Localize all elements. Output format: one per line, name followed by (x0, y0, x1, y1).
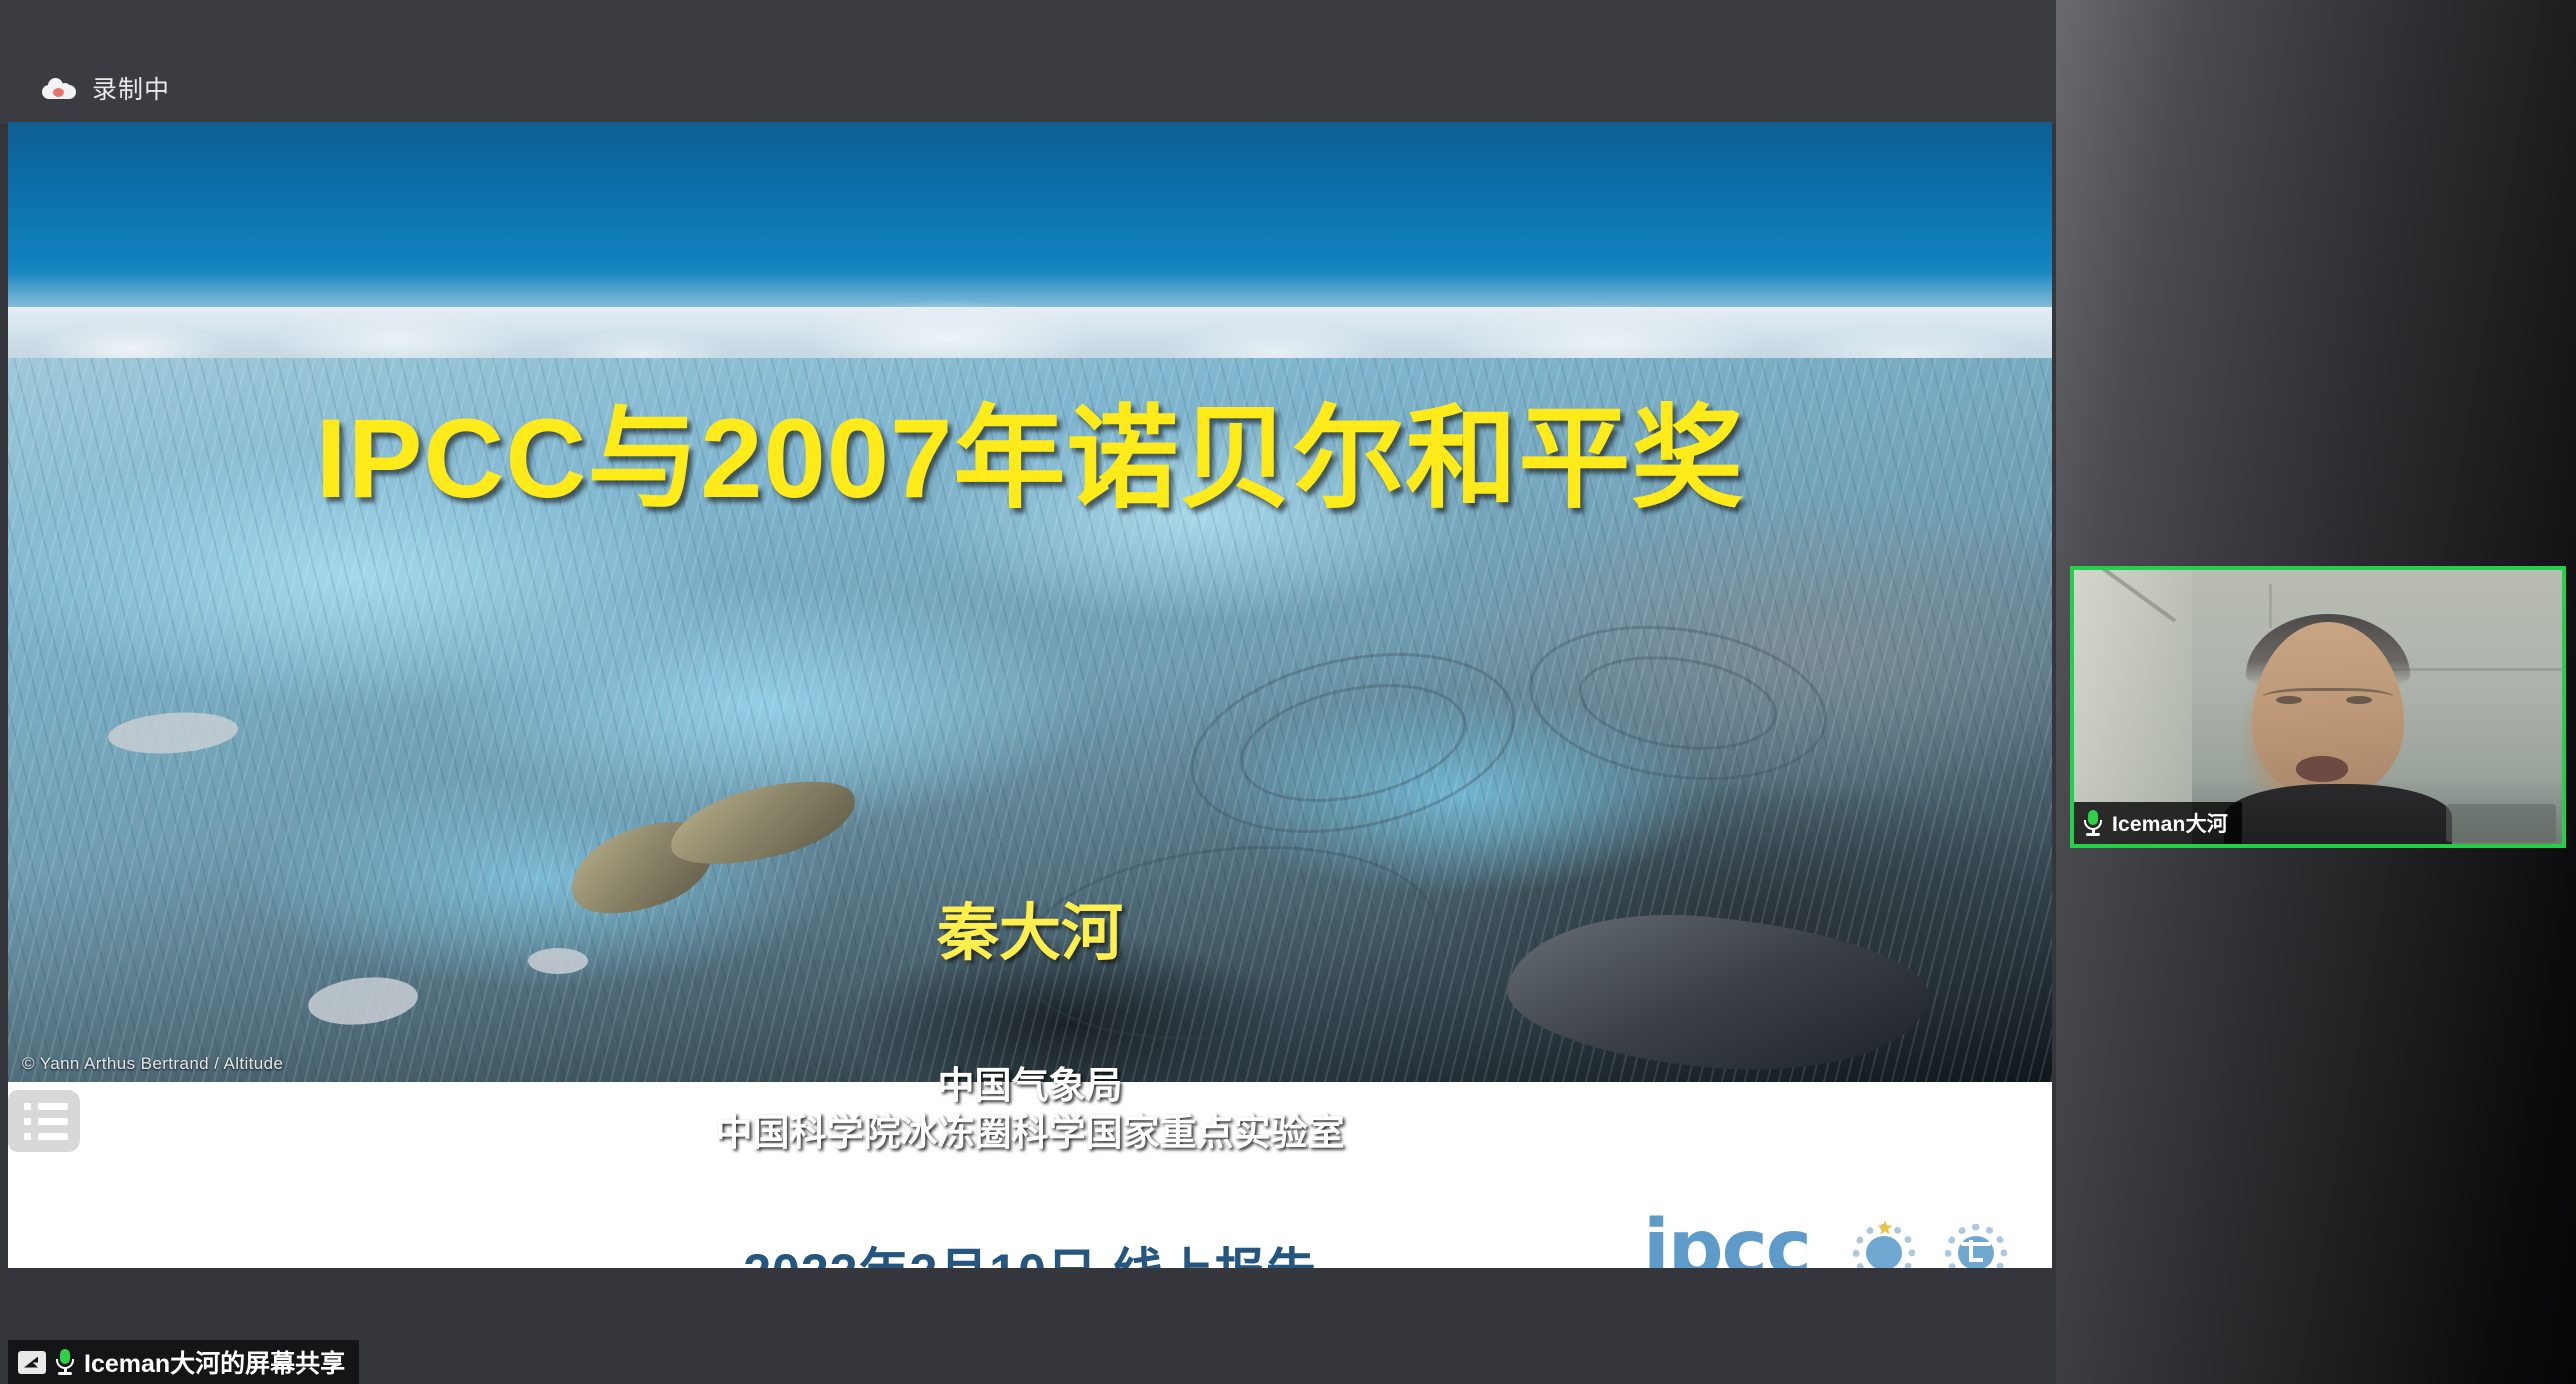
slide-title: IPCC与2007年诺贝尔和平奖 (8, 368, 2052, 530)
unep-logo-icon (1945, 1224, 2007, 1268)
wmo-logo-icon (1853, 1224, 1915, 1268)
recording-label: 录制中 (92, 70, 170, 106)
affiliation-line-1: 中国气象局 (8, 1062, 2052, 1109)
ipcc-wordmark: ipcc (1643, 1212, 1810, 1268)
wmo-logo: WMO (1848, 1224, 1920, 1268)
partner-logos: WMO UNEP (1848, 1224, 2012, 1268)
affiliation-line-2: 中国科学院冰冻圈科学国家重点实验室 (8, 1109, 2052, 1156)
screen-share-icon (18, 1351, 46, 1374)
microphone-icon (54, 1348, 76, 1376)
slide-author: 秦大河 (8, 882, 2052, 972)
participant-video-tile[interactable]: Iceman大河 (2070, 566, 2566, 848)
outline-list-icon[interactable] (8, 1090, 80, 1152)
cloud-record-icon (42, 77, 76, 99)
recording-bar: 录制中 (0, 0, 2056, 124)
slide-affiliation: 中国气象局 中国科学院冰冻圈科学国家重点实验室 (8, 1062, 2052, 1157)
microphone-icon (2082, 809, 2104, 837)
participant-name: Iceman大河 (2112, 808, 2228, 838)
screen-share-label: Iceman大河的屏幕共享 (84, 1344, 345, 1380)
ipcc-logo: ipcc INTERGOVERNMENTAL PANEL ON climate … (1228, 1212, 1928, 1268)
screen-share-banner: Iceman大河的屏幕共享 (8, 1340, 359, 1384)
participant-name-badge: Iceman大河 (2074, 802, 2242, 844)
zoom-meeting-window: 录制中 (0, 0, 2576, 1384)
shared-screen-stage[interactable]: 录制中 (0, 0, 2056, 1384)
presentation-slide[interactable]: © Yann Arthus Bertrand / Altitude IPCC与2… (8, 122, 2052, 1268)
unep-logo: UNEP (1940, 1224, 2012, 1268)
